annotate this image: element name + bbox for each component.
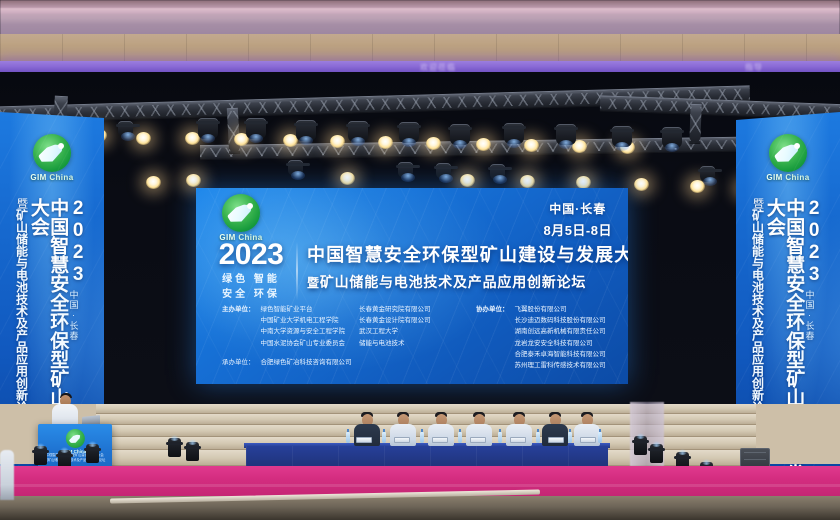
screen-slogan: 绿色 智能 安全 环保: [208, 273, 294, 302]
left-banner-logo-text: GIM China: [24, 173, 80, 182]
host-item: 中国水泥协会矿山专业委员会: [261, 338, 346, 349]
par-light: [634, 178, 649, 191]
left-banner-subtitle: 矿山储能与电池技术及产品应用创新论坛: [15, 209, 27, 425]
screen-slogan-line2: 安全 环保: [208, 288, 294, 303]
nameplate: [470, 437, 486, 443]
left-banner-amp: 暨: [15, 198, 26, 209]
right-banner-year: 2023: [804, 198, 823, 286]
host-item: 储能与电池技术: [359, 338, 431, 349]
gim-leaf-logo-icon: [769, 134, 807, 172]
water-bottle: [420, 432, 424, 443]
nameplate: [580, 437, 596, 443]
moving-head-light: [398, 162, 413, 178]
host-column-2: 长春黄金研究院有限公司 长春黄金设计院有限公司 武汉工程大学 储能与电池技术: [359, 304, 431, 371]
screen-organizer-row: 承办单位： 合肥绿色矿冶科技咨询有限公司: [222, 356, 352, 366]
nameplate: [432, 437, 448, 443]
truss-vertical-right: [689, 104, 701, 144]
par-light: [186, 174, 201, 187]
host-item: 绿色智能矿业平台: [261, 304, 346, 315]
moving-head-light: [399, 122, 419, 143]
moving-head-light: [450, 124, 470, 145]
truss-vertical-mid: [227, 108, 240, 155]
gim-leaf-logo-icon: [33, 134, 71, 172]
par-light: [426, 137, 441, 150]
cohost-label: 协办单位：: [476, 304, 509, 371]
screen-title-amp: 暨: [307, 276, 320, 290]
nameplate: [548, 437, 564, 443]
moving-head-light: [198, 118, 218, 139]
water-bottle: [458, 432, 462, 443]
par-light: [146, 176, 161, 189]
par-light: [378, 136, 393, 149]
organizer-value: 合肥绿色矿冶科技咨询有限公司: [261, 356, 352, 366]
screen-title-column: 中国智慧安全环保型矿山建设与发展大会 暨矿山储能与电池技术及产品应用创新论坛: [307, 240, 628, 292]
moving-head-light: [556, 124, 576, 145]
screen-year-column: 2023 绿色 智能 安全 环保: [208, 240, 294, 302]
screen-year: 2023: [208, 240, 294, 270]
par-light: [524, 139, 539, 152]
headline-divider: [296, 242, 298, 300]
left-banner-place: 中国·长春: [68, 290, 77, 341]
water-bottle: [346, 432, 350, 443]
gim-leaf-logo-icon: [222, 194, 260, 232]
screen-logo: GIM China: [210, 194, 272, 242]
moving-head-light: [296, 120, 316, 141]
hall-ceiling: [0, 0, 840, 36]
gim-leaf-logo-icon: [66, 429, 85, 448]
water-bottle: [382, 432, 386, 443]
main-led-screen: GIM China 中国·长春 8月5日-8日 2023 绿色 智能 安全 环保…: [196, 188, 628, 384]
cohost-item: 飞翼股份有限公司: [515, 304, 606, 315]
moving-head-light: [700, 166, 715, 182]
water-bottle: [568, 432, 572, 443]
screen-slogan-line1: 绿色 智能: [208, 273, 294, 288]
host-item: 长春黄金研究院有限公司: [359, 304, 431, 315]
screen-headline: 2023 绿色 智能 安全 环保 中国智慧安全环保型矿山建设与发展大会 暨矿山储…: [208, 240, 616, 302]
par-light: [340, 172, 355, 185]
left-banner-logo: GIM China: [24, 134, 80, 182]
moving-head-light: [504, 123, 524, 144]
cohost-group: 协办单位： 飞翼股份有限公司 长沙迪迈数码科技股份有限公司 湖南创远高新机械有限…: [476, 304, 606, 371]
par-light: [330, 135, 345, 148]
right-banner-logo: GIM China: [760, 134, 816, 182]
right-banner-logo-text: GIM China: [760, 173, 816, 182]
moving-head-light: [436, 163, 451, 179]
speaker-at-podium: [52, 392, 78, 428]
nameplate: [510, 437, 526, 443]
par-light: [520, 175, 535, 188]
moving-head-light: [246, 118, 266, 139]
moving-head-light: [662, 127, 682, 148]
moving-head-light: [118, 121, 133, 137]
cohost-item: 龙岩龙安安全科技有限公司: [515, 338, 606, 349]
moving-head-light: [288, 160, 303, 176]
cohost-column: 飞翼股份有限公司 长沙迪迈数码科技股份有限公司 湖南创远高新机械有限责任公司 龙…: [515, 304, 606, 371]
nameplate: [394, 437, 410, 443]
screen-title-sub-row: 暨矿山储能与电池技术及产品应用创新论坛: [307, 272, 628, 292]
standing-person-left: [0, 450, 14, 500]
nameplate: [356, 437, 372, 443]
par-light: [460, 174, 475, 187]
organizer-label: 承办单位：: [222, 356, 255, 366]
water-bottle: [598, 432, 602, 443]
stage-photo-scene: 欢迎莅临 指导: [0, 0, 840, 520]
floor-moving-light: [34, 446, 47, 465]
moving-head-light: [490, 164, 505, 180]
host-item: 武汉工程大学: [359, 326, 431, 337]
host-item: 长春黄金设计院有限公司: [359, 315, 431, 326]
screen-city: 中国·长春: [543, 200, 612, 217]
floor-moving-light: [634, 436, 647, 455]
cohost-item: 苏州理工雷科传感技术有限公司: [515, 360, 606, 371]
cohost-item: 合肥泰禾卓海智能科技有限公司: [515, 349, 606, 360]
floor-moving-light: [168, 438, 181, 457]
cohost-item: 长沙迪迈数码科技股份有限公司: [515, 315, 606, 326]
ceiling-light-band: [0, 8, 840, 14]
moving-head-light: [612, 126, 632, 147]
stone-fascia-band: [0, 34, 840, 63]
left-banner-year: 2023: [68, 198, 87, 286]
floor-moving-light: [650, 444, 663, 463]
water-bottle: [536, 432, 540, 443]
cohost-item: 湖南创远高新机械有限责任公司: [515, 326, 606, 337]
right-banner-subtitle: 矿山储能与电池技术及产品应用创新论坛: [751, 209, 763, 425]
right-banner-place: 中国·长春: [804, 290, 813, 341]
moving-head-light: [348, 121, 368, 142]
par-light: [476, 138, 491, 151]
right-banner-amp: 暨: [751, 198, 762, 209]
host-item: 中国矿业大学机电工程学院: [261, 315, 346, 326]
screen-place-block: 中国·长春 8月5日-8日: [543, 200, 612, 239]
screen-title-sub: 矿山储能与电池技术及产品应用创新论坛: [320, 274, 586, 290]
host-item: 中南大学资源与安全工程学院: [261, 326, 346, 337]
floor-moving-light: [86, 444, 99, 463]
floor-moving-light: [186, 442, 199, 461]
water-bottle: [498, 432, 502, 443]
screen-date: 8月5日-8日: [543, 220, 612, 239]
par-light: [136, 132, 151, 145]
screen-title-main: 中国智慧安全环保型矿山建设与发展大会: [307, 241, 628, 267]
